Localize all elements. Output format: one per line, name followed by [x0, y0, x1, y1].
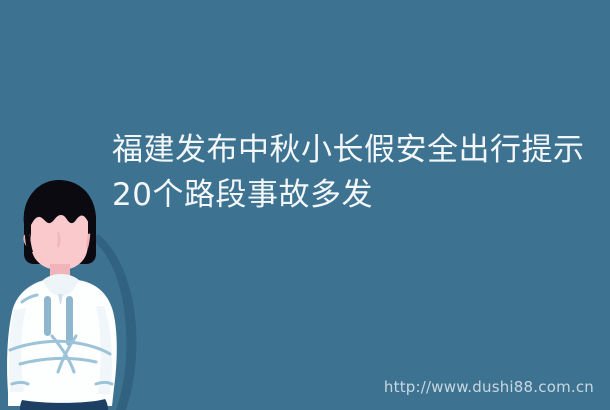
source-watermark-url: http://www.dushi88.com.cn [384, 378, 594, 396]
poster-canvas: 福建发布中秋小长假安全出行提示 20个路段事故多发 http://www.dus… [0, 0, 610, 410]
headline-line-1: 福建发布中秋小长假安全出行提示 [112, 128, 582, 173]
headline-line-2: 20个路段事故多发 [112, 173, 582, 218]
page-title: 福建发布中秋小长假安全出行提示 20个路段事故多发 [112, 128, 582, 218]
